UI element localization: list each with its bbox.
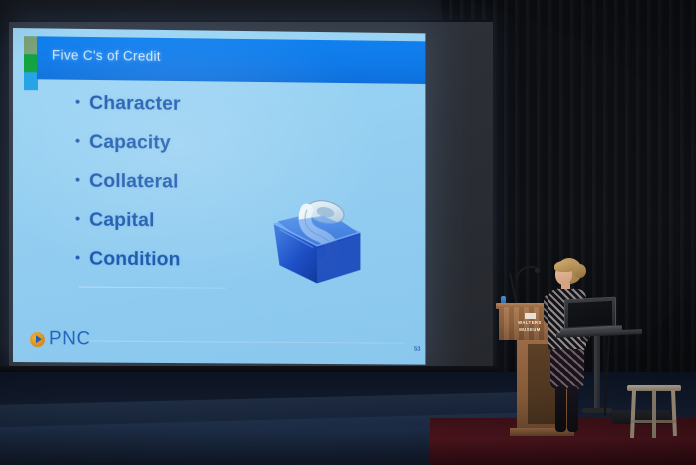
presenter-skirt bbox=[550, 349, 584, 389]
presenter bbox=[540, 256, 598, 432]
projected-slide: Five C's of Credit • Character • Capacit… bbox=[13, 28, 425, 365]
museum-logo-mark-icon bbox=[525, 313, 536, 319]
stool-rail bbox=[631, 420, 676, 423]
bullet-list-divider bbox=[79, 287, 226, 289]
stool-leg bbox=[652, 390, 656, 438]
podium-sign-line-1: WALTERS bbox=[518, 320, 542, 325]
bullet-label: Character bbox=[89, 92, 180, 116]
bullet-dot-icon: • bbox=[75, 251, 80, 266]
presenter-hair-bun bbox=[573, 264, 586, 278]
blue-swatch-icon bbox=[24, 72, 38, 90]
list-item: • Character bbox=[75, 92, 181, 132]
laptop-stand-pole bbox=[594, 336, 600, 410]
list-item: • Condition bbox=[75, 248, 181, 288]
bullet-dot-icon: • bbox=[75, 95, 80, 110]
presenter-right-leg bbox=[567, 386, 578, 432]
pnc-play-mark-icon bbox=[30, 332, 45, 347]
slide-title-bar: Five C's of Credit bbox=[37, 36, 425, 84]
slide-accent-swatches bbox=[24, 36, 38, 90]
slide-canvas: Five C's of Credit • Character • Capacit… bbox=[13, 28, 425, 365]
bullet-label: Condition bbox=[89, 248, 180, 272]
bullet-dot-icon: • bbox=[75, 212, 80, 227]
money-wallet-svg bbox=[264, 187, 367, 297]
green-swatch-icon bbox=[24, 54, 38, 72]
olive-swatch-icon bbox=[24, 36, 38, 54]
presenter-left-leg bbox=[555, 386, 566, 432]
presenter-hair-front bbox=[554, 261, 574, 272]
bullet-dot-icon: • bbox=[75, 173, 80, 188]
list-item: • Collateral bbox=[75, 170, 181, 210]
list-item: • Capacity bbox=[75, 131, 181, 171]
podium-sign-line-2: MUSEUM bbox=[519, 327, 541, 332]
pnc-logo: PNC bbox=[30, 328, 91, 350]
list-item: • Capital bbox=[75, 209, 181, 249]
pnc-wordmark: PNC bbox=[49, 328, 91, 350]
slide-footer: PNC 53 bbox=[13, 322, 425, 355]
photograph-scene: Five C's of Credit • Character • Capacit… bbox=[0, 0, 696, 465]
footer-rule bbox=[87, 341, 404, 344]
slide-title: Five C's of Credit bbox=[52, 47, 161, 63]
bullet-label: Capacity bbox=[89, 131, 171, 155]
laptop-stand-foot bbox=[582, 408, 612, 413]
bullet-label: Collateral bbox=[89, 170, 178, 194]
bullet-label: Capital bbox=[89, 209, 154, 233]
slide-bullet-list: • Character • Capacity • Collateral • Ca… bbox=[75, 92, 181, 288]
money-in-wallet-image bbox=[264, 187, 367, 297]
slide-page-number: 53 bbox=[414, 347, 421, 353]
bullet-dot-icon: • bbox=[75, 134, 80, 149]
